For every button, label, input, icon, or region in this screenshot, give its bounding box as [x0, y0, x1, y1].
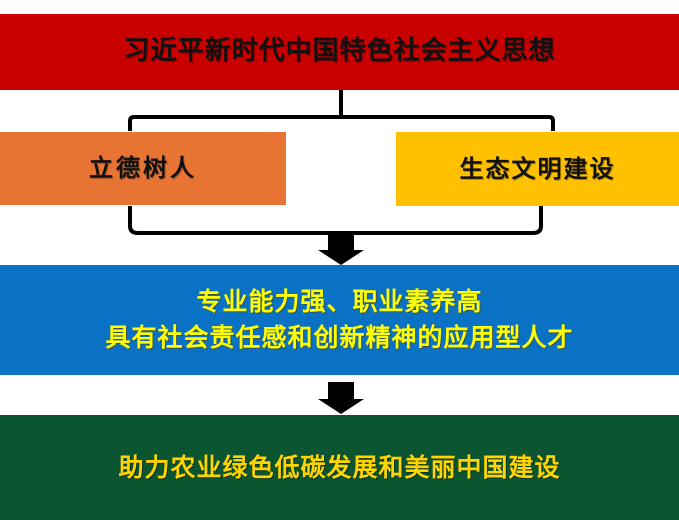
node-guiding-thought-label: 习近平新时代中国特色社会主义思想: [123, 35, 555, 68]
node-mission-outcome: 助力农业绿色低碳发展和美丽中国建设: [0, 415, 679, 520]
node-eco-civilization-label: 生态文明建设: [460, 154, 616, 185]
node-moral-education-label: 立德树人: [89, 153, 197, 184]
node-eco-civilization: 生态文明建设: [396, 132, 679, 206]
node-guiding-thought: 习近平新时代中国特色社会主义思想: [0, 14, 679, 90]
merge-rail: [130, 206, 541, 233]
node-talent-goal: 专业能力强、职业素养高 具有社会责任感和创新精神的应用型人才: [0, 265, 679, 375]
arrow-down-to-blue: [318, 233, 364, 265]
arrow-down-to-green: [318, 382, 364, 414]
bracket-rail: [130, 117, 553, 131]
node-moral-education: 立德树人: [0, 132, 286, 205]
node-mission-outcome-label: 助力农业绿色低碳发展和美丽中国建设: [118, 452, 560, 484]
diagram-canvas: 习近平新时代中国特色社会主义思想 立德树人 生态文明建设 专业能力强、职业素养高…: [0, 0, 679, 520]
top-split-bracket: [130, 90, 553, 131]
bottom-merge-bracket: [130, 206, 541, 236]
node-talent-goal-label: 专业能力强、职业素养高 具有社会责任感和创新精神的应用型人才: [105, 284, 573, 357]
